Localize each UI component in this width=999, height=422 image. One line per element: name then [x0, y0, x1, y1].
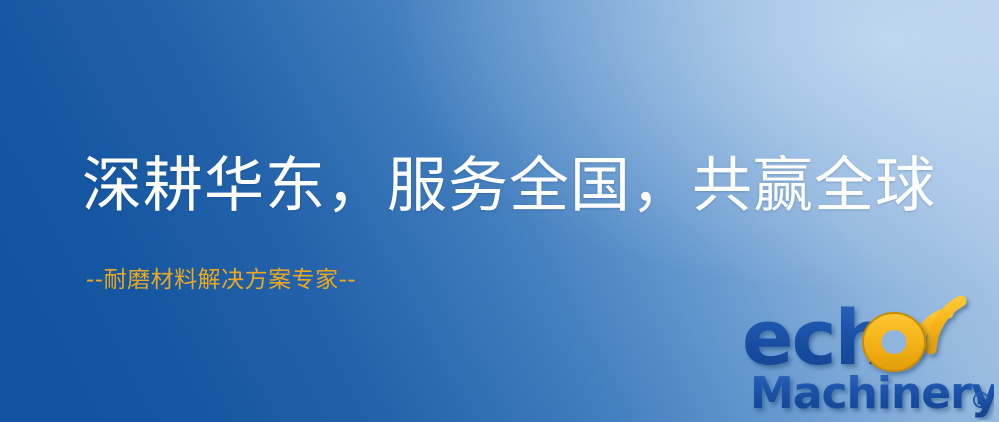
svg-text:®: ®: [970, 389, 992, 414]
banner-subtitle: --耐磨材料解决方案专家--: [86, 265, 356, 295]
svg-text:Machinery: Machinery: [750, 368, 994, 419]
promo-banner: 深耕华东，服务全国，共赢全球 --耐磨材料解决方案专家--: [0, 0, 999, 422]
banner-headline: 深耕华东，服务全国，共赢全球: [82, 152, 936, 220]
logo-accent-o: [863, 313, 925, 371]
logo-tagline-group: Machinery ®: [750, 368, 994, 419]
echo-machinery-logo[interactable]: ech Machinery ®: [742, 296, 994, 420]
